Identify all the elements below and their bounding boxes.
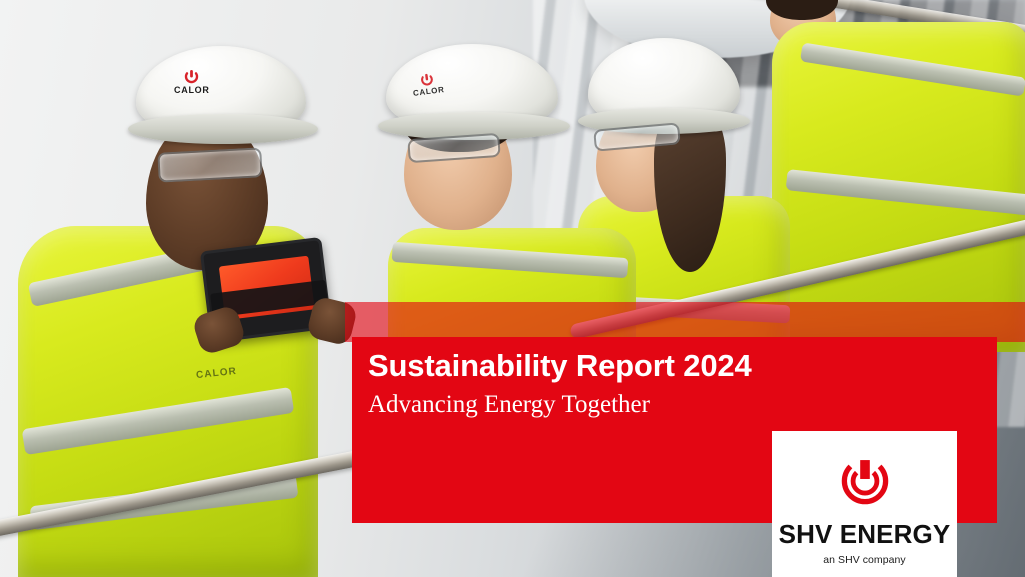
worker-one-helmet-badge: CALOR [174,68,210,95]
worker-one-helmet-brand: CALOR [174,85,210,95]
report-subtitle: Advancing Energy Together [368,390,968,420]
shv-energy-logo: SHV ENERGY an SHV company [772,431,957,577]
worker-one-safety-goggles [157,147,262,182]
worker-two-helmet-badge: CALOR [411,70,445,98]
worker-one-hat-brim [128,114,318,144]
title-block: Sustainability Report 2024 Advancing Ene… [368,348,968,420]
banner-tint-overlay [345,302,1025,342]
report-cover: CALOR CALOR [0,0,1025,577]
shv-power-mark-icon [834,450,896,512]
report-title: Sustainability Report 2024 [368,348,968,383]
shv-energy-tagline: an SHV company [823,554,905,566]
shv-energy-wordmark: SHV ENERGY [779,521,951,547]
calor-power-mark-icon [183,68,200,85]
